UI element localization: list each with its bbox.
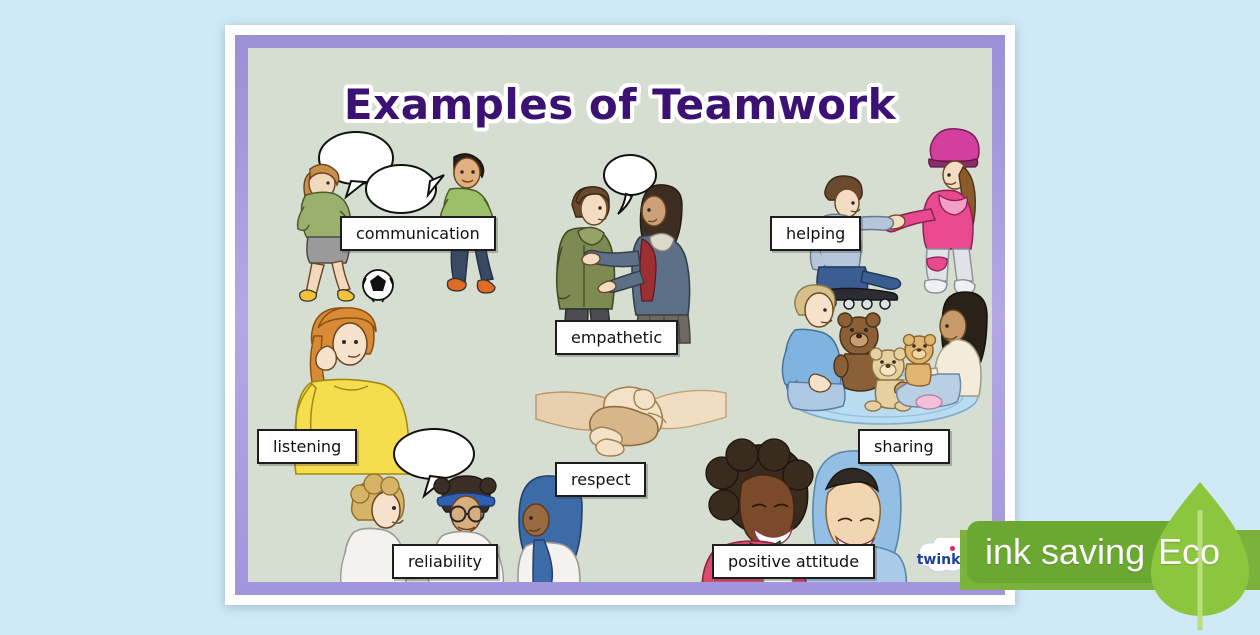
teddy-tan-icon xyxy=(904,335,936,387)
eco-label: Eco xyxy=(1158,521,1220,583)
poster: Examples of Teamwork xyxy=(225,25,1015,605)
label-positive-attitude: positive attitude xyxy=(712,544,875,579)
label-respect: respect xyxy=(555,462,646,497)
label-reliability: reliability xyxy=(392,544,498,579)
poster-purple-border: Examples of Teamwork xyxy=(235,35,1005,595)
slipper-icon xyxy=(916,395,942,409)
scene-helping-skater xyxy=(803,123,992,303)
poster-canvas: Examples of Teamwork xyxy=(248,48,992,582)
label-sharing: sharing xyxy=(858,429,950,464)
child-helping-girl xyxy=(883,129,979,294)
scene-sharing-teddies xyxy=(773,278,992,428)
ink-saving-label: ink saving xyxy=(985,521,1145,583)
page-title: Examples of Teamwork xyxy=(248,80,992,129)
label-empathetic: empathetic xyxy=(555,320,678,355)
label-helping: helping xyxy=(770,216,861,251)
screenshot-stage: Examples of Teamwork xyxy=(0,0,1260,630)
label-communication: communication xyxy=(340,216,496,251)
twinkl-dot-icon xyxy=(950,546,955,551)
child-sharing-boy xyxy=(782,285,845,411)
label-listening: listening xyxy=(257,429,357,464)
speech-bubble-icon xyxy=(366,165,444,213)
